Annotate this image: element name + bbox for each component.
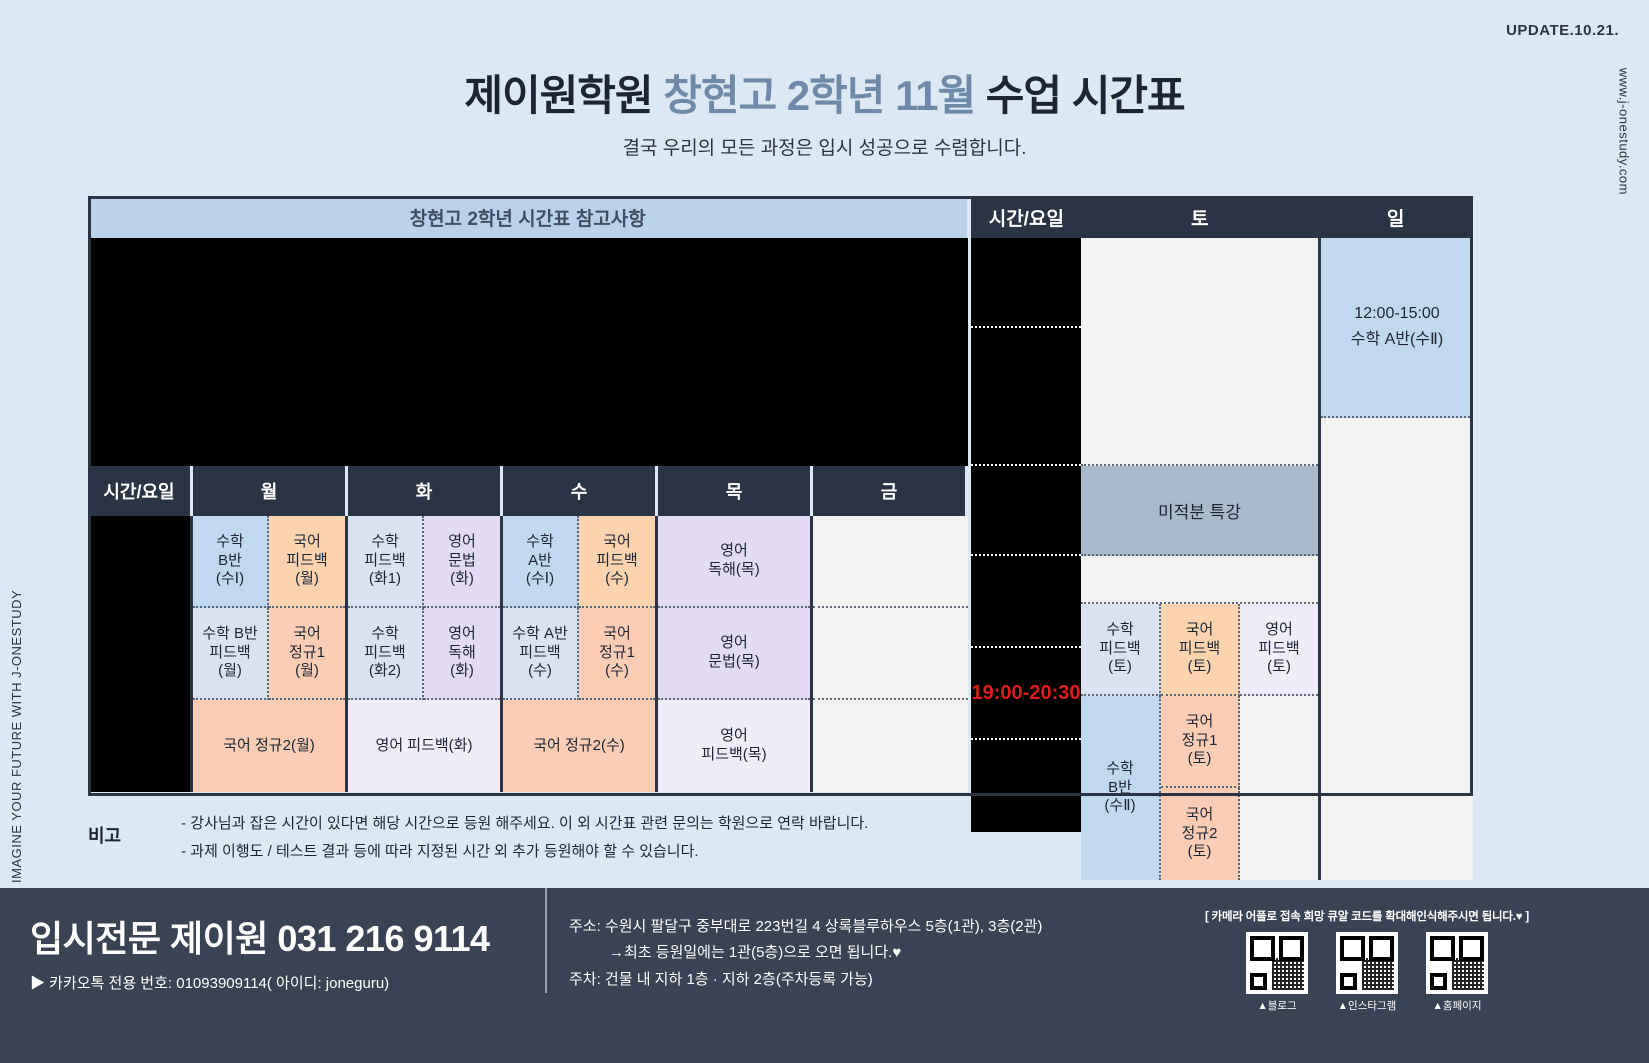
qr-item-homepage[interactable]: ▲홈페이지: [1426, 932, 1488, 1013]
class-cell[interactable]: 국어정규1(수): [579, 608, 655, 700]
column-monday: 수학B반(수Ⅰ) 국어피드백(월) 수학 B반피드백(월) 국어정규1(월) 국…: [193, 516, 348, 792]
weekend-block: 19:00-20:30 미적분 특강 수학피드백(토) 수학B반(수Ⅱ) 국어피…: [971, 238, 1473, 880]
column-wednesday: 수학A반(수Ⅰ) 국어피드백(수) 수학 A반피드백(수) 국어정규1(수) 국…: [503, 516, 658, 792]
qr-label: ▲인스타그램: [1336, 998, 1398, 1013]
title-part-3: 수업 시간표: [986, 72, 1185, 119]
time-slot-blank: [971, 556, 1081, 648]
footer-brand-phone: 입시전문 제이원 031 216 9114: [30, 910, 545, 962]
footer-contact: 입시전문 제이원 031 216 9114 ▶ 카카오톡 전용 번호: 0109…: [0, 888, 545, 993]
footer-address: 주소: 수원시 팔달구 중부대로 223번길 4 상록블루하우스 5층(1관),…: [545, 888, 1085, 993]
saturday-empty-gap: [1081, 556, 1318, 604]
weekday-header-time: 시간/요일: [88, 466, 193, 516]
class-cell[interactable]: 수학피드백(토): [1081, 604, 1161, 696]
saturday-empty-top: [1081, 238, 1318, 466]
qr-label: ▲블로그: [1246, 998, 1308, 1013]
class-cell[interactable]: [813, 516, 968, 608]
weekday-header-mon: 월: [193, 466, 348, 516]
board-header-row: 창현고 2학년 시간표 참고사항 시간/요일 토 일: [88, 196, 1473, 238]
notes-black-panel: [88, 238, 968, 466]
class-cell[interactable]: [813, 608, 968, 700]
remarks-lines: - 강사님과 잡은 시간이 있다면 해당 시간으로 등원 해주세요. 이 외 시…: [181, 810, 868, 866]
weekend-time-column: 19:00-20:30: [971, 238, 1081, 880]
title-part-1: 제이원학원: [464, 72, 663, 119]
side-website-right: www.j-onestudy.com: [1616, 68, 1631, 195]
tue-row-1: 수학피드백(화1) 영어문법(화): [348, 516, 500, 608]
time-slot-blank: [971, 466, 1081, 556]
class-cell[interactable]: 영어 피드백(화): [348, 700, 500, 792]
remarks-section: 비고 - 강사님과 잡은 시간이 있다면 해당 시간으로 등원 해주세요. 이 …: [88, 810, 1188, 866]
notes-header: 창현고 2학년 시간표 참고사항: [88, 196, 967, 238]
page-title: 제이원학원 창현고 2학년 11월 수업 시간표: [0, 62, 1649, 123]
class-cell[interactable]: 국어 정규2(수): [503, 700, 655, 792]
class-cell[interactable]: [1240, 696, 1318, 880]
weekday-time-column: [88, 516, 193, 792]
time-slot-1900: 19:00-20:30: [971, 648, 1081, 740]
class-cell[interactable]: 수학피드백(화1): [348, 516, 424, 608]
weekday-header-wed: 수: [503, 466, 658, 516]
class-cell[interactable]: 영어피드백(목): [658, 700, 810, 792]
class-cell[interactable]: 국어피드백(토): [1161, 604, 1240, 696]
class-cell[interactable]: 국어정규1(월): [269, 608, 345, 700]
footer: 입시전문 제이원 031 216 9114 ▶ 카카오톡 전용 번호: 0109…: [0, 888, 1649, 1063]
weekday-block: 시간/요일 월 화 수 목 금 수학B반(수Ⅰ) 국어피드백(월) 수학 B반피…: [88, 238, 968, 880]
title-part-2: 창현고 2학년 11월: [663, 72, 986, 119]
update-label: UPDATE.10.21.: [1506, 22, 1619, 39]
header-saturday: 토: [1081, 196, 1318, 238]
class-cell[interactable]: 수학B반(수Ⅰ): [193, 516, 269, 608]
saturday-special-class[interactable]: 미적분 특강: [1081, 466, 1318, 556]
class-cell[interactable]: 영어독해(화): [424, 608, 500, 700]
side-slogan-left: IMAGINE YOUR FUTURE WITH J-ONESTUDY: [9, 590, 24, 883]
footer-kakao: ▶ 카카오톡 전용 번호: 01093909114( 아이디: joneguru…: [30, 972, 545, 993]
class-cell[interactable]: [813, 700, 968, 792]
qr-code-icon[interactable]: [1426, 932, 1488, 994]
qr-instruction: [ 카메라 어플로 접속 희망 큐알 코드를 확대해인식해주시면 됩니다.♥ ]: [1085, 908, 1649, 924]
class-cell[interactable]: 국어피드백(월): [269, 516, 345, 608]
tue-row-2: 수학피드백(화2) 영어독해(화): [348, 608, 500, 700]
column-tuesday: 수학피드백(화1) 영어문법(화) 수학피드백(화2) 영어독해(화) 영어 피…: [348, 516, 503, 792]
sunday-column: 12:00-15:00 수학 A반(수Ⅱ): [1318, 238, 1473, 880]
footer-qr-section: [ 카메라 어플로 접속 희망 큐알 코드를 확대해인식해주시면 됩니다.♥ ]…: [1085, 888, 1649, 1013]
class-cell[interactable]: 수학A반(수Ⅰ): [503, 516, 579, 608]
sunday-class-time: 12:00-15:00: [1354, 301, 1439, 327]
class-cell[interactable]: 수학 B반피드백(월): [193, 608, 269, 700]
column-thursday: 영어독해(목) 영어문법(목) 영어피드백(목): [658, 516, 813, 792]
time-slot-blank: [971, 238, 1081, 328]
board-body: 시간/요일 월 화 수 목 금 수학B반(수Ⅰ) 국어피드백(월) 수학 B반피…: [88, 238, 1473, 880]
qr-code-icon[interactable]: [1336, 932, 1398, 994]
class-cell[interactable]: 수학 A반피드백(수): [503, 608, 579, 700]
qr-item-blog[interactable]: ▲블로그: [1246, 932, 1308, 1013]
footer-parking: 주차: 건물 내 지하 1층 · 지하 2층(주차등록 가능): [569, 967, 1085, 993]
mon-row-2: 수학 B반피드백(월) 국어정규1(월): [193, 608, 345, 700]
time-slot-blank: [971, 328, 1081, 466]
column-friday: [813, 516, 968, 792]
class-cell[interactable]: 국어피드백(수): [579, 516, 655, 608]
sunday-class-block[interactable]: 12:00-15:00 수학 A반(수Ⅱ): [1321, 238, 1473, 418]
sunday-empty-area: [1321, 418, 1473, 880]
mon-row-1: 수학B반(수Ⅰ) 국어피드백(월): [193, 516, 345, 608]
saturday-col-english: 영어피드백(토): [1240, 604, 1318, 880]
timetable-board: 창현고 2학년 시간표 참고사항 시간/요일 토 일 시간/요일 월 화 수 목…: [88, 196, 1473, 796]
class-cell[interactable]: 영어피드백(토): [1240, 604, 1318, 696]
weekday-header-tue: 화: [348, 466, 503, 516]
page-subtitle: 결국 우리의 모든 과정은 입시 성공으로 수렴합니다.: [0, 133, 1649, 160]
weekday-header-thu: 목: [658, 466, 813, 516]
qr-code-icon[interactable]: [1246, 932, 1308, 994]
wed-row-1: 수학A반(수Ⅰ) 국어피드백(수): [503, 516, 655, 608]
qr-item-instagram[interactable]: ▲인스타그램: [1336, 932, 1398, 1013]
remarks-label: 비고: [88, 810, 121, 866]
weekday-cells: 수학B반(수Ⅰ) 국어피드백(월) 수학 B반피드백(월) 국어정규1(월) 국…: [88, 516, 968, 792]
weekday-header-row: 시간/요일 월 화 수 목 금: [88, 466, 968, 516]
class-cell[interactable]: 영어문법(목): [658, 608, 810, 700]
remark-line: - 강사님과 잡은 시간이 있다면 해당 시간으로 등원 해주세요. 이 외 시…: [181, 810, 868, 838]
weekday-header-fri: 금: [813, 466, 968, 516]
qr-label: ▲홈페이지: [1426, 998, 1488, 1013]
class-cell[interactable]: 수학피드백(화2): [348, 608, 424, 700]
qr-row: ▲블로그 ▲인스타그램 ▲홈페이지: [1085, 932, 1649, 1013]
header-sunday: 일: [1318, 196, 1473, 238]
footer-address-line2: →최초 등원일에는 1관(5층)으로 오면 됩니다.♥: [569, 940, 1085, 966]
sunday-class-label: 수학 A반(수Ⅱ): [1351, 327, 1444, 353]
class-cell[interactable]: 국어정규1(토): [1161, 696, 1240, 788]
remark-line: - 과제 이행도 / 테스트 결과 등에 따라 지정된 시간 외 추가 등원해야…: [181, 838, 868, 866]
class-cell[interactable]: 국어 정규2(월): [193, 700, 345, 792]
footer-address-line1: 주소: 수원시 팔달구 중부대로 223번길 4 상록블루하우스 5층(1관),…: [569, 914, 1085, 940]
class-cell[interactable]: 영어문법(화): [424, 516, 500, 608]
header-time-day: 시간/요일: [971, 196, 1081, 238]
saturday-column: 미적분 특강 수학피드백(토) 수학B반(수Ⅱ) 국어피드백(토) 국어정규1(…: [1081, 238, 1318, 880]
class-cell[interactable]: 영어독해(목): [658, 516, 810, 608]
wed-row-2: 수학 A반피드백(수) 국어정규1(수): [503, 608, 655, 700]
